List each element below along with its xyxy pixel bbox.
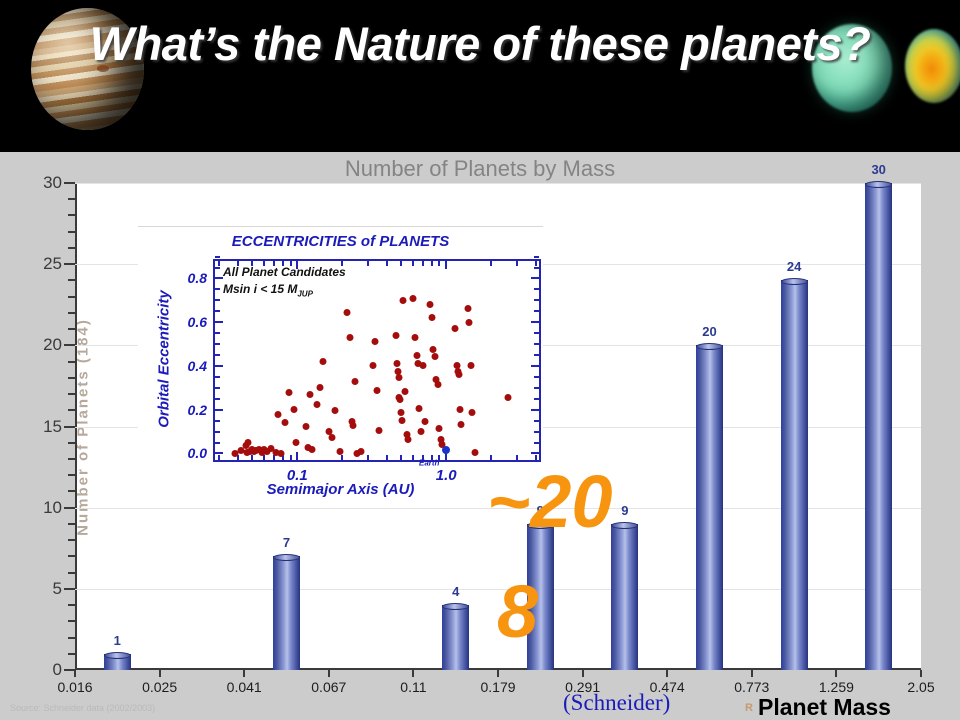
x-tick: [835, 670, 837, 677]
scatter-point: [398, 409, 405, 416]
inset-x-tick-top: [273, 261, 275, 266]
inset-x-tick: [251, 455, 253, 460]
inset-y-tick-right: [534, 310, 539, 312]
inset-x-tick-top: [422, 261, 424, 266]
scatter-point: [421, 418, 428, 425]
scatter-point: [434, 381, 441, 388]
x-tick-label: 0.773: [734, 679, 769, 695]
inset-y-tick-label: 0.8: [188, 270, 207, 286]
x-tick: [582, 670, 584, 677]
inset-y-tick: [215, 420, 220, 422]
scatter-point: [346, 334, 353, 341]
y-tick-minor: [68, 312, 75, 314]
scatter-point: [412, 334, 419, 341]
x-tick-label: 0.11: [400, 679, 426, 695]
inset-y-tick-right: [534, 420, 539, 422]
inset-x-tick-top: [282, 261, 284, 266]
inset-x-axis-title: Semimajor Axis (AU): [138, 481, 543, 498]
scatter-point: [466, 319, 473, 326]
inset-note-sub: JUP: [297, 289, 313, 298]
inset-y-tick-right: [531, 365, 539, 367]
inset-title: ECCENTRICITIES of PLANETS: [138, 233, 543, 250]
scatter-point: [286, 389, 293, 396]
inset-x-tick-top: [237, 261, 239, 266]
inset-y-tick-right: [531, 321, 539, 323]
inset-y-tick-right: [534, 288, 539, 290]
y-tick-minor: [68, 637, 75, 639]
x-tick: [328, 670, 330, 677]
inset-x-tick: [367, 455, 369, 460]
y-tick-minor: [68, 620, 75, 622]
scatter-point: [374, 387, 381, 394]
inset-x-tick-top: [263, 261, 265, 266]
inset-y-tick: [215, 409, 223, 411]
y-tick-minor: [68, 604, 75, 606]
inset-y-tick-right: [534, 354, 539, 356]
x-tick-label: 1.259: [819, 679, 854, 695]
y-tick-minor: [68, 231, 75, 233]
inset-y-tick: [215, 365, 223, 367]
y-tick-major: [64, 507, 75, 509]
inset-x-tick-top: [400, 261, 402, 266]
scatter-point: [337, 448, 344, 455]
inset-y-tick-label: 0.0: [188, 445, 207, 461]
scatter-point: [329, 434, 336, 441]
y-tick-minor: [68, 393, 75, 395]
scatter-point: [400, 297, 407, 304]
y-tick-label: 5: [53, 579, 62, 599]
scatter-point: [399, 417, 406, 424]
inset-x-tick-top: [251, 261, 253, 266]
y-tick-minor: [68, 279, 75, 281]
gridline: [75, 183, 921, 184]
scatter-point: [245, 439, 252, 446]
x-axis-title: Planet Mass: [758, 694, 891, 720]
bar: [781, 280, 808, 670]
scatter-point: [428, 314, 435, 321]
eccentricity-inset: ECCENTRICITIES of PLANETS Orbital Eccent…: [138, 226, 543, 502]
inset-y-tick-label: 0.6: [188, 314, 207, 330]
inset-plot-frame: All Planet Candidates Msin i < 15 MJUP 0…: [213, 259, 541, 462]
scatter-point: [319, 358, 326, 365]
inset-y-tick: [215, 398, 220, 400]
scatter-point: [394, 360, 401, 367]
chart-title: Number of Planets by Mass: [0, 156, 960, 182]
scatter-point: [303, 423, 310, 430]
inset-y-tick: [215, 387, 220, 389]
inset-x-tick: [341, 455, 343, 460]
slide-root: What’s the Nature of these planets? Numb…: [0, 0, 960, 720]
bar-value-label: 24: [787, 259, 801, 274]
x-tick: [159, 670, 161, 677]
inset-y-tick: [215, 256, 220, 258]
x-tick-label: 0.016: [57, 679, 92, 695]
inset-x-tick: [400, 455, 402, 460]
earth-label: Earth: [419, 458, 439, 467]
scatter-point: [397, 396, 404, 403]
inset-y-tick: [215, 431, 220, 433]
bar: [865, 183, 892, 670]
scatter-point: [317, 384, 324, 391]
x-tick: [666, 670, 668, 677]
inset-y-tick-right: [534, 376, 539, 378]
scatter-point: [274, 411, 281, 418]
chart-area: Number of Planets by Mass Number of Plan…: [0, 152, 960, 720]
inset-x-tick: [263, 455, 265, 460]
scatter-point: [402, 388, 409, 395]
inset-x-tick-label: 0.1: [287, 467, 308, 484]
inset-y-tick-right: [534, 332, 539, 334]
y-tick-label: 30: [43, 173, 62, 193]
scatter-point: [504, 394, 511, 401]
y-tick-major: [64, 344, 75, 346]
y-tick-label: 25: [43, 254, 62, 274]
scatter-point: [282, 419, 289, 426]
bar-value-label: 1: [114, 633, 121, 648]
bar-value-label: 4: [452, 584, 459, 599]
scatter-point: [458, 421, 465, 428]
inset-y-tick-right: [534, 431, 539, 433]
x-tick-label: 0.041: [227, 679, 262, 695]
inset-y-tick: [215, 354, 220, 356]
x-tick: [74, 670, 76, 677]
annotation-8: 8: [497, 575, 538, 649]
inset-y-tick: [215, 288, 220, 290]
x-tick: [920, 670, 922, 677]
inset-y-tick: [215, 299, 220, 301]
scatter-point: [420, 362, 427, 369]
inset-y-tick-right: [534, 267, 539, 269]
scatter-point: [416, 405, 423, 412]
bar-value-label: 30: [871, 162, 885, 177]
inset-y-tick: [215, 343, 220, 345]
x-tick: [497, 670, 499, 677]
y-tick-label: 0: [53, 660, 62, 680]
y-tick-minor: [68, 474, 75, 476]
scatter-point: [375, 427, 382, 434]
page-title: What’s the Nature of these planets?: [0, 16, 960, 72]
y-tick-major: [64, 182, 75, 184]
inset-y-tick-right: [531, 277, 539, 279]
title-banner: What’s the Nature of these planets?: [0, 0, 960, 152]
scatter-point: [307, 391, 314, 398]
inset-y-tick: [215, 442, 220, 444]
credit-schneider: (Schneider): [563, 690, 670, 716]
y-tick-minor: [68, 361, 75, 363]
scatter-point: [417, 428, 424, 435]
bar: [442, 605, 469, 670]
scatter-point: [456, 371, 463, 378]
inset-x-tick-top: [367, 261, 369, 266]
bar: [611, 524, 638, 670]
scatter-point: [352, 378, 359, 385]
scatter-point: [410, 295, 417, 302]
x-tick-label: 0.067: [311, 679, 346, 695]
inset-y-tick-right: [534, 398, 539, 400]
y-tick-minor: [68, 247, 75, 249]
y-tick-major: [64, 426, 75, 428]
inset-y-tick-right: [534, 343, 539, 345]
inset-y-tick-right: [534, 442, 539, 444]
scatter-point: [369, 362, 376, 369]
bar: [273, 556, 300, 670]
inset-x-tick-top: [218, 261, 220, 266]
x-tick-label: 0.025: [142, 679, 177, 695]
scatter-point: [392, 332, 399, 339]
inset-x-tick-top: [535, 261, 537, 266]
y-tick-minor: [68, 409, 75, 411]
scatter-point: [395, 374, 402, 381]
scatter-point: [290, 406, 297, 413]
inset-y-tick-right: [534, 256, 539, 258]
scatter-point: [349, 422, 356, 429]
inset-x-tick-top: [438, 261, 440, 266]
scatter-point: [457, 406, 464, 413]
inset-x-tick-top: [341, 261, 343, 266]
bar: [104, 654, 131, 670]
inset-x-tick-top: [412, 261, 414, 266]
inset-y-tick-right: [531, 409, 539, 411]
y-tick-minor: [68, 377, 75, 379]
x-tick: [412, 670, 414, 677]
inset-note-line1: All Planet Candidates: [223, 265, 346, 279]
y-tick-minor: [68, 523, 75, 525]
r-marker: R: [745, 702, 753, 714]
y-tick-minor: [68, 198, 75, 200]
inset-x-tick: [386, 455, 388, 460]
scatter-point: [371, 338, 378, 345]
annotation-approx-20: ~20: [487, 465, 613, 539]
y-tick-minor: [68, 555, 75, 557]
earth-scatter-point: [442, 446, 450, 454]
y-tick-label: 15: [43, 417, 62, 437]
x-tick-label: 0.179: [480, 679, 515, 695]
inset-x-tick: [412, 455, 414, 460]
y-tick-minor: [68, 539, 75, 541]
inset-y-tick: [215, 376, 220, 378]
inset-y-tick: [215, 321, 223, 323]
inset-x-tick-top: [490, 261, 492, 266]
scatter-point: [404, 436, 411, 443]
y-tick-minor: [68, 572, 75, 574]
x-tick-label: 2.05: [907, 679, 934, 695]
y-tick-major: [64, 263, 75, 265]
inset-x-tick-top: [386, 261, 388, 266]
scatter-point: [332, 407, 339, 414]
inset-y-axis-title: Orbital Eccentricity: [156, 290, 173, 428]
scatter-point: [308, 446, 315, 453]
inset-y-tick-label: 0.4: [188, 358, 207, 374]
y-tick-label: 20: [43, 335, 62, 355]
inset-x-tick-top: [445, 261, 447, 269]
bar-value-label: 9: [621, 503, 628, 518]
scatter-point: [427, 301, 434, 308]
inset-y-tick-right: [534, 387, 539, 389]
y-tick-minor: [68, 458, 75, 460]
inset-y-tick: [215, 267, 220, 269]
bar-value-label: 20: [702, 324, 716, 339]
scatter-point: [343, 309, 350, 316]
y-tick-minor: [68, 328, 75, 330]
x-tick: [243, 670, 245, 677]
y-tick-minor: [68, 214, 75, 216]
y-tick-major: [64, 588, 75, 590]
y-tick-minor: [68, 296, 75, 298]
scatter-point: [436, 425, 443, 432]
inset-x-tick: [290, 455, 292, 460]
bar-value-label: 7: [283, 535, 290, 550]
inset-x-tick-top: [290, 261, 292, 266]
scatter-point: [358, 448, 365, 455]
inset-x-tick-top: [296, 261, 298, 269]
scatter-point: [313, 401, 320, 408]
scatter-point: [278, 450, 285, 457]
scatter-point: [413, 352, 420, 359]
scatter-point: [464, 305, 471, 312]
bar: [696, 345, 723, 670]
inset-x-tick-top: [431, 261, 433, 266]
inset-y-tick-right: [534, 299, 539, 301]
x-tick: [751, 670, 753, 677]
inset-note-line2: Msin i < 15 MJUP: [223, 282, 313, 298]
inset-note-prefix: Msin i < 15 M: [223, 282, 297, 296]
inset-x-tick-label: 1.0: [436, 467, 457, 484]
inset-y-tick: [215, 332, 220, 334]
y-tick-minor: [68, 490, 75, 492]
inset-x-tick: [296, 452, 298, 460]
inset-x-tick-top: [516, 261, 518, 266]
inset-y-tick: [215, 310, 220, 312]
source-credit: Source: Schneider data (2002/2003): [10, 703, 155, 713]
y-tick-label: 10: [43, 498, 62, 518]
inset-y-tick: [215, 277, 223, 279]
scatter-point: [468, 409, 475, 416]
inset-x-tick: [218, 455, 220, 460]
y-tick-minor: [68, 653, 75, 655]
inset-y-tick-label: 0.2: [188, 402, 207, 418]
scatter-point: [293, 439, 300, 446]
scatter-point: [431, 353, 438, 360]
y-tick-minor: [68, 442, 75, 444]
scatter-point: [471, 449, 478, 456]
scatter-point: [452, 325, 459, 332]
scatter-point: [467, 362, 474, 369]
